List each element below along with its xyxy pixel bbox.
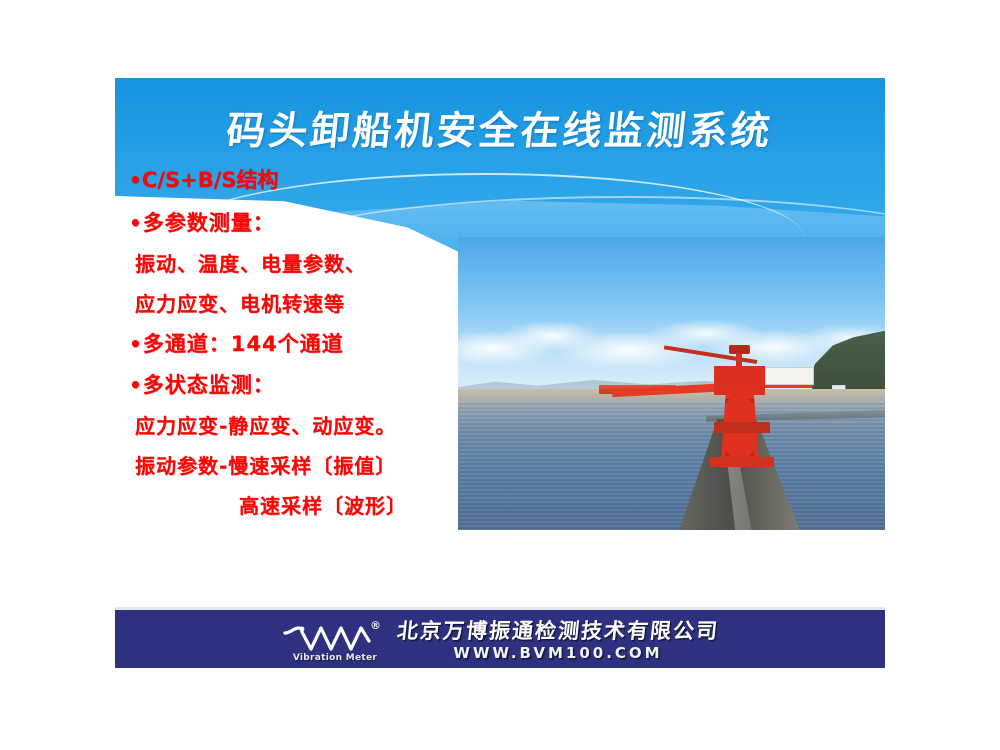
company-website: WWW.BVM100.COM bbox=[453, 646, 662, 661]
list-item-label: 应力应变-静应变、动应变。 bbox=[135, 414, 396, 438]
list-item: 振动参数-慢速采样〔振值〕 bbox=[129, 456, 479, 476]
list-item: 应力应变-静应变、动应变。 bbox=[129, 416, 479, 436]
footer-text-group: 北京万博振通检测技术有限公司 WWW.BVM100.COM bbox=[397, 621, 719, 661]
list-item: •多状态监测： bbox=[129, 375, 479, 396]
list-item: •多通道：144个通道 bbox=[129, 334, 479, 355]
port-crane-photo bbox=[458, 237, 885, 530]
crane-base bbox=[710, 457, 774, 467]
list-item-label: 多状态监测： bbox=[143, 373, 275, 397]
list-item-label: 多参数测量： bbox=[143, 211, 275, 235]
list-item: •C/S+B/S结构 bbox=[129, 170, 479, 191]
list-item: 振动、温度、电量参数、 bbox=[129, 254, 479, 274]
crane-mid-beam bbox=[714, 422, 770, 434]
bullet-list: •C/S+B/S结构 •多参数测量： 振动、温度、电量参数、 应力应变、电机转速… bbox=[129, 170, 479, 536]
footer-bar: ® Vibration Meter 北京万博振通检测技术有限公司 WWW.BVM… bbox=[115, 607, 885, 668]
crane-cap bbox=[729, 345, 750, 354]
list-item: 高速采样〔波形〕 bbox=[129, 496, 479, 516]
footer-content: ® Vibration Meter 北京万博振通检测技术有限公司 WWW.BVM… bbox=[115, 610, 885, 668]
logo-caption: Vibration Meter bbox=[287, 653, 383, 663]
bullet-marker: • bbox=[129, 373, 143, 397]
bullet-marker: • bbox=[129, 332, 143, 356]
company-name: 北京万博振通检测技术有限公司 bbox=[396, 621, 720, 642]
slide-canvas: 码头卸船机安全在线监测系统 •C/S+B/S结构 •多参数测量： 振动、温度、电… bbox=[115, 78, 885, 668]
list-item-label: 应力应变、电机转速等 bbox=[135, 292, 345, 316]
bullet-marker: • bbox=[129, 168, 142, 192]
list-item-label: C/S+B/S结构 bbox=[142, 168, 279, 192]
list-item-label: 振动参数-慢速采样〔振值〕 bbox=[135, 454, 396, 478]
list-item: •多参数测量： bbox=[129, 213, 479, 234]
list-item-label: 多通道：144个通道 bbox=[143, 332, 344, 356]
registered-trademark-icon: ® bbox=[370, 619, 381, 632]
crane-sign bbox=[765, 367, 814, 385]
list-item-label: 振动、温度、电量参数、 bbox=[135, 252, 366, 276]
list-item-label: 高速采样〔波形〕 bbox=[239, 494, 407, 518]
vibration-meter-logo: ® Vibration Meter bbox=[281, 619, 385, 663]
bullet-marker: • bbox=[129, 211, 143, 235]
list-item: 应力应变、电机转速等 bbox=[129, 294, 479, 314]
photo-sea-ripples bbox=[458, 401, 885, 530]
page-title: 码头卸船机安全在线监测系统 bbox=[115, 100, 885, 156]
